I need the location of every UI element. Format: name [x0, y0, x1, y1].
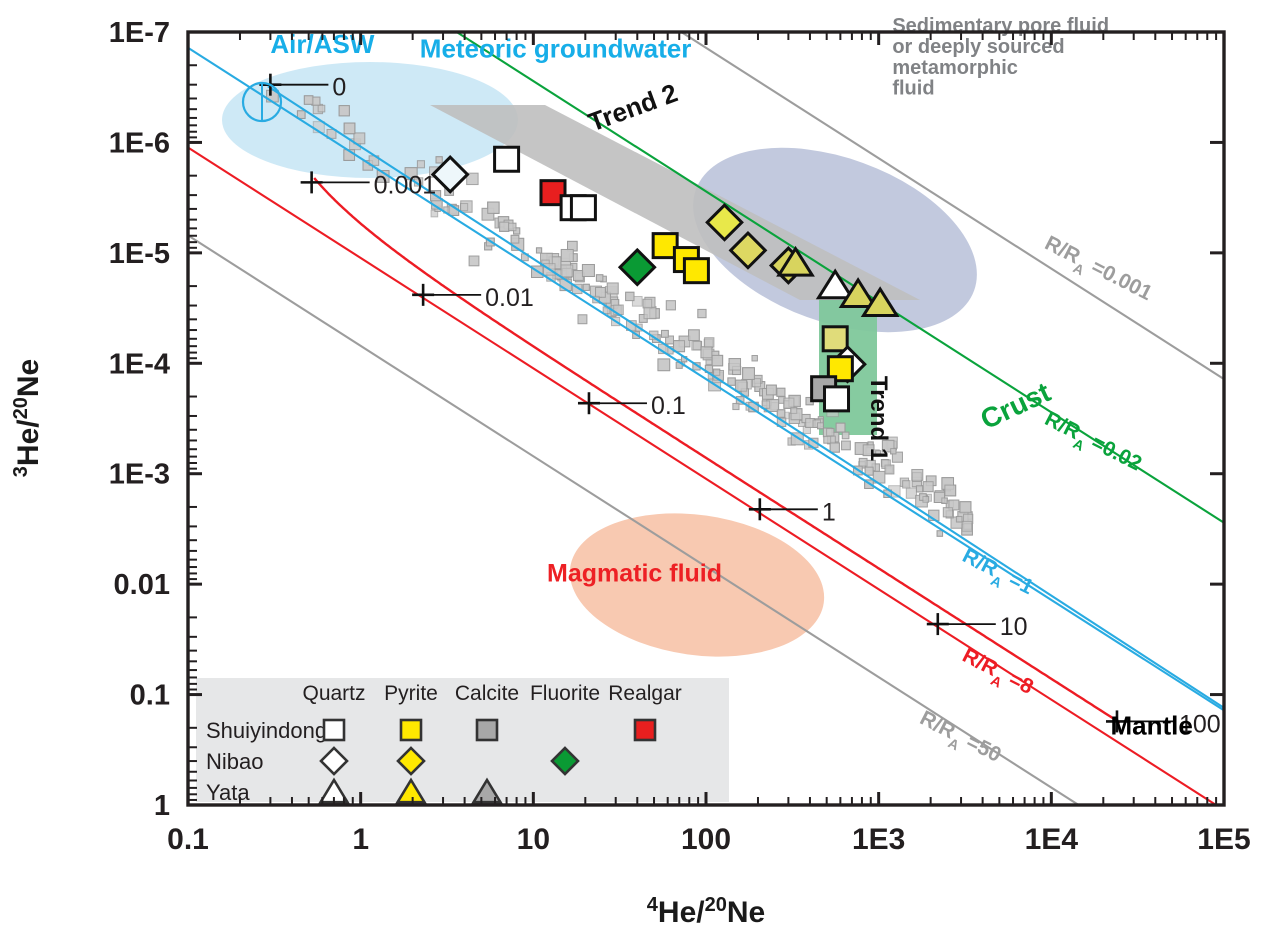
chart-root: 00.0010.010.1110100 % R/RA =0.001R/RA =0…: [0, 0, 1270, 938]
cloud-point: [827, 429, 834, 436]
cloud-point: [644, 307, 656, 319]
legend-row-shuiyindong: Shuiyindong: [206, 718, 327, 743]
cloud-point: [561, 265, 573, 277]
cloud-point: [842, 441, 851, 450]
cloud-point: [561, 249, 573, 261]
legend-column-fluorite: Fluorite: [530, 682, 600, 705]
cloud-point: [658, 359, 670, 371]
cloud-point: [956, 516, 962, 522]
y-tick-label: 1: [154, 790, 170, 822]
y-tick-label: 1E-4: [109, 348, 170, 380]
sample-marker-shuiyindong-quartz: [571, 196, 595, 220]
cloud-point: [923, 482, 933, 492]
svg-text:metamorphic: metamorphic: [892, 57, 1018, 79]
cloud-point: [661, 330, 668, 337]
cloud-point: [784, 398, 794, 408]
svg-text:Magmatic fluid: Magmatic fluid: [547, 560, 722, 588]
cloud-point: [777, 410, 784, 417]
cloud-point: [469, 256, 479, 266]
mixing-tick-label: 0.1: [651, 392, 686, 420]
cloud-point: [536, 248, 541, 253]
svg-text:R/RA =1: R/RA =1: [956, 544, 1037, 605]
cloud-point: [500, 222, 509, 231]
mixing-tick-label: 10: [1000, 613, 1028, 641]
y-tick-label: 0.1: [130, 680, 170, 712]
legend-row-yata: Yata: [206, 780, 250, 805]
cloud-point: [607, 283, 618, 294]
cloud-point: [692, 341, 701, 350]
mixing-tick-label: 0.001: [374, 171, 437, 199]
legend-marker-shuiyindong-calcite: [477, 720, 497, 740]
cloud-point: [743, 368, 755, 380]
sample-marker-shuiyindong-quartz: [495, 147, 519, 171]
x-tick-label: 1E4: [1025, 823, 1079, 856]
mixing-tick-label: 0.01: [485, 284, 534, 312]
x-axis-label: 4He/20Ne: [647, 894, 765, 929]
y-axis-label: 3He/20Ne: [10, 359, 45, 477]
cloud-point: [511, 235, 519, 243]
legend-column-quartz: Quartz: [302, 682, 365, 705]
x-tick-label: 1E5: [1197, 823, 1250, 856]
cloud-point: [766, 385, 776, 395]
cloud-point: [698, 309, 706, 317]
cloud-point: [791, 407, 797, 413]
cloud-point: [705, 338, 714, 347]
mixing-tick-label: 0: [332, 74, 346, 102]
cloud-point: [912, 469, 923, 480]
cloud-point: [461, 204, 468, 211]
legend[interactable]: QuartzPyriteCalciteFluoriteRealgarShuiyi…: [196, 678, 729, 805]
cloud-point: [777, 388, 785, 396]
cloud-point: [903, 481, 910, 488]
cloud-point: [733, 403, 739, 409]
cloud-point: [943, 508, 952, 517]
cloud-point: [578, 315, 587, 324]
ratio-label-rra-8: R/RA =8: [956, 644, 1037, 705]
sample-marker-shuiyindong-quartz: [825, 387, 849, 411]
cloud-point: [736, 380, 747, 391]
cloud-point: [728, 378, 735, 385]
cloud-point: [923, 497, 929, 503]
cloud-point: [582, 265, 594, 277]
cloud-point: [937, 531, 942, 536]
sample-marker-shuiyindong-pyrite: [684, 259, 708, 283]
x-tick-label: 1E3: [852, 823, 905, 856]
cloud-point: [417, 161, 424, 168]
annotation-meteoric: Meteoric groundwater: [420, 33, 692, 63]
svg-text:Trend 2: Trend 2: [584, 78, 681, 138]
y-tick-label: 1E-6: [109, 127, 170, 159]
sample-marker-shuiyindong-pyrite: [823, 327, 847, 351]
cloud-point: [626, 292, 634, 300]
cloud-point: [583, 284, 589, 290]
cloud-point: [842, 432, 849, 439]
x-tick-label: 1: [352, 823, 369, 856]
cloud-point: [962, 521, 972, 531]
cloud-point: [712, 355, 722, 365]
annotation-trend1: Trend 1: [865, 376, 892, 461]
cloud-point: [689, 330, 700, 341]
cloud-point: [344, 123, 355, 134]
x-tick-label: 0.1: [167, 823, 209, 856]
legend-column-realgar: Realgar: [608, 682, 682, 705]
x-tick-label: 10: [517, 823, 550, 856]
svg-text:Mantle: Mantle: [1110, 711, 1192, 741]
legend-column-pyrite: Pyrite: [384, 682, 438, 705]
he-ne-isotope-scatter-plot: 00.0010.010.1110100 % R/RA =0.001R/RA =0…: [0, 0, 1270, 938]
y-tick-label: 1E-5: [109, 238, 170, 270]
legend-row-nibao: Nibao: [206, 749, 263, 774]
cloud-point: [436, 157, 442, 163]
cloud-point: [960, 502, 971, 513]
legend-marker-shuiyindong-quartz: [324, 720, 344, 740]
cloud-point: [318, 105, 325, 112]
y-tick-label: 1E-7: [109, 17, 170, 49]
annotation-sed-line4: fluid: [892, 78, 934, 100]
cloud-point: [573, 271, 583, 281]
legend-marker-shuiyindong-realgar: [635, 720, 655, 740]
annotation-trend2: Trend 2: [584, 78, 681, 138]
sample-marker-nibao-fluorite: [620, 250, 655, 285]
cloud-point: [509, 223, 516, 230]
cloud-point: [945, 485, 956, 496]
svg-text:fluid: fluid: [892, 78, 934, 100]
svg-text:R/RA =0.02: R/RA =0.02: [1038, 407, 1145, 481]
ratio-label-rra-50: R/RA =50: [913, 707, 1004, 773]
svg-text:or deeply sourced: or deeply sourced: [892, 36, 1064, 58]
annotation-sed-line2: or deeply sourced: [892, 36, 1064, 58]
svg-text:R/RA =50: R/RA =50: [913, 707, 1004, 773]
cloud-point: [666, 301, 675, 310]
legend-marker-shuiyindong-pyrite: [401, 720, 421, 740]
cloud-point: [865, 467, 873, 475]
legend-column-calcite: Calcite: [455, 682, 519, 705]
cloud-point: [824, 436, 831, 443]
cloud-point: [885, 465, 894, 474]
cloud-point: [701, 347, 712, 358]
ratio-label-rra-0-02: R/RA =0.02: [1038, 407, 1145, 481]
cloud-point: [488, 202, 499, 213]
cloud-point: [729, 359, 740, 370]
annotation-sed-line3: metamorphic: [892, 57, 1018, 79]
cloud-point: [817, 423, 823, 429]
cloud-point: [643, 299, 652, 308]
svg-text:Meteoric groundwater: Meteoric groundwater: [420, 33, 692, 63]
cloud-point: [942, 498, 947, 503]
y-tick-label: 1E-3: [109, 459, 170, 491]
cloud-point: [304, 96, 313, 105]
cloud-point: [752, 356, 757, 361]
cloud-point: [714, 369, 720, 375]
cloud-point: [906, 488, 916, 498]
x-tick-label: 100: [681, 823, 731, 856]
annotation-mantle: Mantle: [1110, 711, 1192, 741]
ratio-label-rra-1: R/RA =1: [956, 544, 1037, 605]
mixing-tick-label: 1: [822, 498, 836, 526]
annotation-magmatic-fluid: Magmatic fluid: [547, 560, 722, 588]
svg-text:Trend 1: Trend 1: [865, 376, 892, 461]
y-tick-label: 0.01: [114, 569, 170, 601]
cloud-point: [830, 443, 839, 452]
cloud-point: [916, 486, 922, 492]
cloud-point: [596, 275, 602, 281]
cloud-point: [836, 423, 845, 432]
svg-text:R/RA =8: R/RA =8: [956, 644, 1037, 705]
cloud-point: [339, 106, 349, 116]
